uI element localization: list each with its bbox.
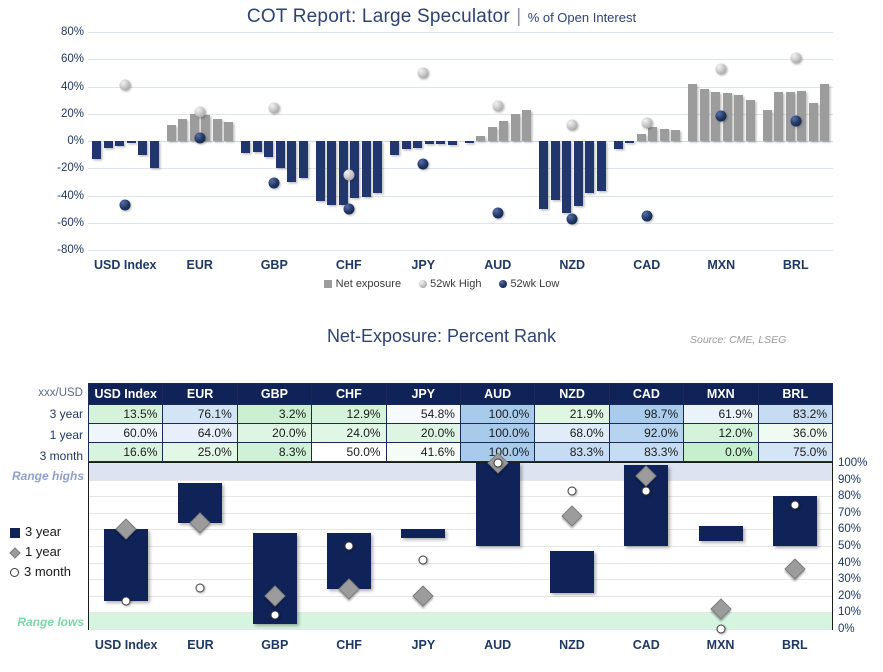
legend-item-3-year: 3 year — [10, 522, 88, 542]
three-year-range-bar — [699, 526, 743, 541]
y-axis-tick-label: 20% — [838, 590, 861, 602]
gridline — [89, 546, 832, 547]
three-month-marker — [345, 542, 354, 551]
x-axis-tick-label: GBP — [261, 258, 288, 272]
net-exposure-bar — [488, 127, 497, 141]
bar-group — [237, 32, 312, 250]
net-exposure-bar — [253, 141, 262, 152]
net-exposure-bar — [167, 125, 176, 141]
bottom-chart-plot-area — [88, 462, 833, 630]
net-exposure-bar — [425, 141, 434, 144]
rank-table-cell: 12.9% — [312, 405, 386, 424]
rank-table-col-header: MXN — [684, 384, 758, 405]
net-exposure-bar — [700, 89, 709, 141]
net-exposure-bar — [373, 141, 382, 193]
legend-item-label: 52wk Low — [510, 278, 559, 290]
rank-table: USD IndexEURGBPCHFJPYAUDNZDCADMXNBRL 13.… — [88, 383, 833, 462]
y-axis-tick-label: 70% — [838, 507, 861, 519]
x-axis-tick-label: AUD — [484, 638, 511, 652]
net-exposure-bar — [92, 141, 101, 159]
y-axis-tick-label: 40% — [838, 557, 861, 569]
gridline — [89, 596, 832, 597]
top-chart-legend: Net exposure52wk High52wk Low — [0, 278, 883, 290]
y-axis-tick-label: -20% — [44, 162, 84, 174]
52wk-low-marker — [492, 208, 503, 219]
x-axis-tick-label: USD Index — [95, 638, 158, 652]
net-exposure-bar — [316, 141, 325, 201]
52wk-low-marker — [120, 200, 131, 211]
52wk-high-marker — [120, 80, 131, 91]
legend-item-label: 1 year — [25, 544, 61, 559]
x-axis-tick-label: GBP — [261, 638, 288, 652]
net-exposure-bar — [660, 129, 669, 141]
rank-table-col-header: USD Index — [89, 384, 163, 405]
net-exposure-bar — [436, 141, 445, 144]
net-exposure-bar — [465, 141, 474, 143]
rank-table-cell: 100.0% — [460, 424, 534, 443]
52wk-high-marker — [716, 63, 727, 74]
gridline — [89, 579, 832, 580]
rank-table-cell: 75.0% — [758, 443, 832, 462]
net-exposure-bar — [625, 141, 634, 143]
three-month-marker — [419, 555, 428, 564]
net-exposure-bar — [213, 119, 222, 141]
top-chart-y-axis: 80%60%40%20%0%-20%-40%-60%-80% — [40, 32, 84, 250]
y-axis-tick-label: 50% — [838, 540, 861, 552]
net-exposure-bar — [362, 141, 371, 197]
x-axis-tick-label: BRL — [783, 258, 809, 272]
three-year-range-bar — [550, 551, 594, 593]
y-axis-tick-label: 0% — [44, 135, 84, 147]
net-exposure-bar — [115, 141, 124, 146]
rank-table-row: 16.6%25.0%8.3%50.0%41.6%100.0%83.3%83.3%… — [89, 443, 833, 462]
net-exposure-bar — [448, 141, 457, 145]
rank-table-cell: 20.0% — [237, 424, 311, 443]
net-exposure-bar — [688, 84, 697, 141]
y-axis-tick-label: 80% — [838, 490, 861, 502]
y-axis-tick-label: 60% — [44, 53, 84, 65]
legend-item-net-exposure: Net exposure — [324, 278, 401, 290]
52wk-high-marker — [567, 119, 578, 130]
net-exposure-bar — [127, 141, 136, 143]
x-axis-tick-label: AUD — [484, 258, 511, 272]
x-axis-tick-label: JPY — [412, 638, 436, 652]
rank-table-body: 13.5%76.1%3.2%12.9%54.8%100.0%21.9%98.7%… — [89, 405, 833, 462]
three-month-marker — [122, 597, 131, 606]
net-exposure-bar — [327, 141, 336, 205]
rank-table-row-labels: xxx/USD3 year1 year3 month — [0, 383, 88, 467]
bar-group — [759, 32, 834, 250]
52wk-high-marker — [269, 103, 280, 114]
bar-group — [684, 32, 759, 250]
52wk-low-marker — [418, 159, 429, 170]
52wk-low-marker — [194, 133, 205, 144]
net-exposure-bar — [299, 141, 308, 178]
rank-table-cell: 20.0% — [386, 424, 460, 443]
source-note: Source: CME, LSEG — [690, 334, 840, 346]
y-axis-tick-label: -40% — [44, 190, 84, 202]
rank-table-cell: 8.3% — [237, 443, 311, 462]
y-axis-tick-label: 80% — [44, 26, 84, 38]
one-year-marker — [561, 506, 582, 527]
legend-item-1-year: 1 year — [10, 542, 88, 562]
rank-table-cell: 100.0% — [460, 405, 534, 424]
net-exposure-bar — [734, 95, 743, 141]
rank-table-cell: 21.9% — [535, 405, 609, 424]
rank-table-col-header: GBP — [237, 384, 311, 405]
gridline — [88, 250, 833, 251]
net-exposure-bar — [402, 141, 411, 149]
bar-group — [163, 32, 238, 250]
top-chart-title-separator: | — [516, 6, 521, 27]
bar-group — [610, 32, 685, 250]
rank-table-col-header: AUD — [460, 384, 534, 405]
net-exposure-bar — [138, 141, 147, 155]
52wk-low-marker — [269, 178, 280, 189]
legend-item-label: 52wk High — [430, 278, 481, 290]
net-exposure-bar — [178, 119, 187, 141]
legend-swatch-icon — [324, 280, 332, 288]
net-exposure-bar — [746, 100, 755, 141]
rank-table-cell: 64.0% — [163, 424, 237, 443]
rank-table-cell: 50.0% — [312, 443, 386, 462]
rank-table-cell: 24.0% — [312, 424, 386, 443]
x-axis-tick-label: MXN — [707, 638, 735, 652]
52wk-low-marker — [641, 210, 652, 221]
rank-table-cell: 16.6% — [89, 443, 163, 462]
rank-table-cell: 13.5% — [89, 405, 163, 424]
range-highs-label: Range highs — [4, 469, 84, 483]
three-month-marker — [270, 611, 279, 620]
x-axis-tick-label: BRL — [782, 638, 808, 652]
net-exposure-bar — [551, 141, 560, 200]
net-exposure-bar — [562, 141, 571, 213]
x-axis-tick-label: EUR — [187, 638, 213, 652]
legend-swatch-icon — [419, 280, 427, 288]
rank-table-cell: 83.2% — [758, 405, 832, 424]
52wk-high-marker — [343, 170, 354, 181]
gridline — [89, 563, 832, 564]
net-exposure-bar — [597, 141, 606, 191]
three-month-marker — [642, 486, 651, 495]
rank-table-head: USD IndexEURGBPCHFJPYAUDNZDCADMXNBRL — [89, 384, 833, 405]
net-exposure-bar — [241, 141, 250, 153]
gridline — [89, 480, 832, 481]
range-highs-band — [89, 463, 832, 480]
rank-table-header-row: USD IndexEURGBPCHFJPYAUDNZDCADMXNBRL — [89, 384, 833, 405]
y-axis-tick-label: -60% — [44, 217, 84, 229]
rank-table-col-header: BRL — [758, 384, 832, 405]
y-axis-tick-label: 10% — [838, 606, 861, 618]
y-axis-tick-label: 90% — [838, 474, 861, 486]
legend-item-label: 3 month — [24, 564, 71, 579]
net-exposure-bar — [224, 122, 233, 141]
rank-table-row-label: 3 year — [0, 404, 88, 425]
three-year-range-bar — [104, 529, 148, 601]
rank-table-row-label: 1 year — [0, 425, 88, 446]
cot-chart-panel: COT Report: Large Speculator | % of Open… — [0, 0, 883, 300]
top-chart-plot-area — [88, 32, 833, 250]
three-month-marker — [567, 486, 576, 495]
x-axis-tick-label: MXN — [707, 258, 735, 272]
net-exposure-bar — [774, 92, 783, 141]
rank-table-row: 60.0%64.0%20.0%24.0%20.0%100.0%68.0%92.0… — [89, 424, 833, 443]
net-exposure-bar — [104, 141, 113, 148]
net-exposure-bar — [637, 134, 646, 141]
legend-item-52wk-high: 52wk High — [419, 278, 481, 290]
x-axis-tick-label: NZD — [559, 258, 585, 272]
rank-table-cell: 54.8% — [386, 405, 460, 424]
bar-group — [386, 32, 461, 250]
three-year-range-bar — [476, 463, 520, 546]
net-exposure-bar — [150, 141, 159, 168]
three-year-range-bar — [401, 529, 445, 538]
x-axis-tick-label: JPY — [411, 258, 435, 272]
y-axis-tick-label: 100% — [838, 457, 867, 469]
rank-table-row-label: 3 month — [0, 446, 88, 467]
legend-item-52wk-low: 52wk Low — [499, 278, 559, 290]
rank-table-corner-label: xxx/USD — [0, 383, 88, 404]
rank-table-cell: 25.0% — [163, 443, 237, 462]
net-exposure-bar — [763, 110, 772, 141]
legend-diamond-icon — [9, 547, 20, 558]
top-chart-title: COT Report: Large Speculator | % of Open… — [0, 6, 883, 28]
legend-square-icon — [10, 528, 20, 538]
legend-swatch-icon — [499, 280, 507, 288]
52wk-low-marker — [790, 115, 801, 126]
x-axis-tick-label: CHF — [336, 638, 362, 652]
52wk-high-marker — [492, 100, 503, 111]
net-exposure-bar — [585, 141, 594, 193]
three-month-marker — [493, 459, 502, 468]
gridline — [89, 463, 832, 464]
bottom-chart-legend: 3 year1 year3 month — [10, 522, 88, 582]
three-month-marker — [716, 625, 725, 634]
net-exposure-bar — [614, 141, 623, 149]
rank-table-cell: 0.0% — [684, 443, 758, 462]
x-axis-tick-label: CAD — [633, 258, 660, 272]
bar-group — [461, 32, 536, 250]
52wk-high-marker — [641, 118, 652, 129]
y-axis-tick-label: 20% — [44, 108, 84, 120]
y-axis-tick-label: 30% — [838, 573, 861, 585]
x-axis-tick-label: CHF — [336, 258, 362, 272]
bar-group — [88, 32, 163, 250]
rank-table-cell: 61.9% — [684, 405, 758, 424]
legend-item-label: 3 year — [25, 524, 61, 539]
legend-item-3-month: 3 month — [10, 562, 88, 582]
rank-table-cell: 92.0% — [609, 424, 683, 443]
y-axis-tick-label: 0% — [838, 623, 855, 635]
range-lows-label: Range lows — [4, 615, 84, 629]
net-exposure-bar — [390, 141, 399, 155]
net-exposure-bar — [574, 141, 583, 206]
rank-table-cell: 83.3% — [535, 443, 609, 462]
net-exposure-bar — [671, 130, 680, 141]
three-month-marker — [790, 500, 799, 509]
net-exposure-bar — [648, 127, 657, 141]
rank-table-cell: 12.0% — [684, 424, 758, 443]
52wk-high-marker — [790, 52, 801, 63]
net-exposure-bar — [287, 141, 296, 182]
net-exposure-bar — [820, 84, 829, 141]
rank-table-col-header: NZD — [535, 384, 609, 405]
net-exposure-bar — [276, 141, 285, 168]
net-exposure-bar — [499, 121, 508, 141]
rank-table-cell: 83.3% — [609, 443, 683, 462]
52wk-high-marker — [418, 67, 429, 78]
net-exposure-bar — [511, 114, 520, 141]
rank-table-col-header: EUR — [163, 384, 237, 405]
rank-table-cell: 60.0% — [89, 424, 163, 443]
52wk-low-marker — [567, 213, 578, 224]
net-exposure-bar — [264, 141, 273, 157]
bar-group — [312, 32, 387, 250]
rank-table-row: 13.5%76.1%3.2%12.9%54.8%100.0%21.9%98.7%… — [89, 405, 833, 424]
rank-table-cell: 98.7% — [609, 405, 683, 424]
bar-group — [535, 32, 610, 250]
rank-table-cell: 3.2% — [237, 405, 311, 424]
rank-table-cell: 68.0% — [535, 424, 609, 443]
legend-circle-icon — [10, 568, 19, 577]
rank-table-cell: 76.1% — [163, 405, 237, 424]
top-chart-title-sub: % of Open Interest — [528, 10, 636, 25]
y-axis-tick-label: 60% — [838, 523, 861, 535]
top-chart-title-main: COT Report: Large Speculator — [247, 6, 510, 27]
x-axis-tick-label: CAD — [633, 638, 660, 652]
x-axis-tick-label: EUR — [187, 258, 213, 272]
52wk-low-marker — [343, 204, 354, 215]
net-exposure-bar — [809, 103, 818, 141]
rank-table-cell: 36.0% — [758, 424, 832, 443]
rank-table-col-header: JPY — [386, 384, 460, 405]
net-exposure-bar — [476, 136, 485, 141]
rank-table-cell: 41.6% — [386, 443, 460, 462]
y-axis-tick-label: -80% — [44, 244, 84, 256]
rank-table-col-header: CAD — [609, 384, 683, 405]
x-axis-tick-label: USD Index — [94, 258, 157, 272]
net-exposure-bar — [413, 141, 422, 148]
legend-item-label: Net exposure — [336, 278, 401, 290]
52wk-low-marker — [716, 111, 727, 122]
52wk-high-marker — [194, 107, 205, 118]
three-month-marker — [196, 583, 205, 592]
x-axis-tick-label: NZD — [559, 638, 585, 652]
one-year-marker — [413, 585, 434, 606]
net-exposure-bar — [539, 141, 548, 209]
rank-table-col-header: CHF — [312, 384, 386, 405]
y-axis-tick-label: 40% — [44, 81, 84, 93]
net-exposure-bar — [522, 110, 531, 141]
